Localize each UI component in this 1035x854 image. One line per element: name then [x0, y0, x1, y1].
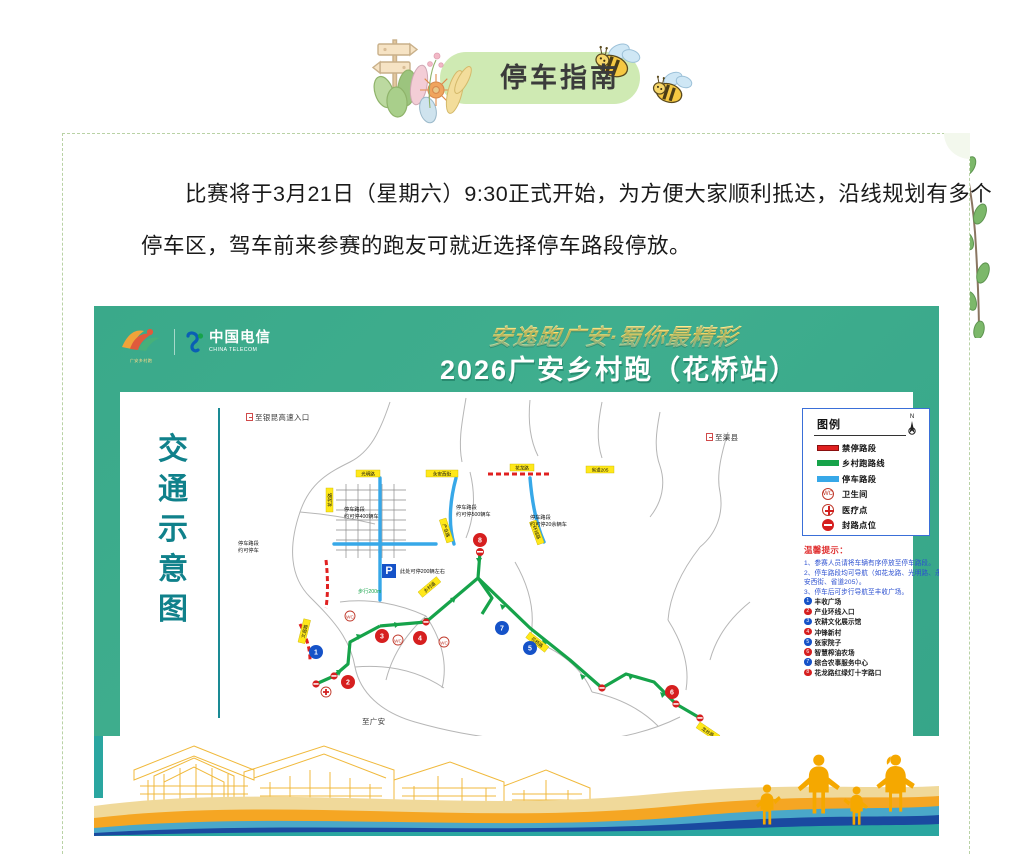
- legend-divider: [814, 435, 906, 436]
- signpost-icon: [246, 413, 253, 421]
- route-swatch: [817, 460, 839, 466]
- poi-label: 农耕文化展示馆: [815, 616, 862, 626]
- svg-text:花龙路: 花龙路: [326, 493, 333, 507]
- poi-label: 冲锋新村: [815, 627, 842, 637]
- legend-item-closure: 封路点位: [814, 518, 924, 534]
- tips-line: 2、停车路段均可导航（如花龙路、光明路、永安西街、省道205）。: [804, 569, 939, 588]
- direction-label: 至广安: [362, 716, 385, 727]
- list-item: 5 张家院子: [804, 637, 939, 647]
- direction-label: 至银昆高速入口: [246, 412, 310, 423]
- list-item: 2 产业环线入口: [804, 606, 939, 616]
- svg-text:WC: WC: [346, 614, 354, 619]
- traffic-map-poster: 广安乡村跑 中国电信 CHINA TELECOM 安逸跑广安·蜀你最精彩 202…: [94, 306, 939, 836]
- poi-label: 智慧榨油农场: [815, 647, 855, 657]
- card-corner-fold: [944, 133, 970, 159]
- legend-item-no-parking: 禁停路段: [814, 440, 924, 456]
- legend-item-medical: 医疗点: [814, 502, 924, 518]
- china-telecom-logo: 中国电信 CHINA TELECOM: [185, 331, 271, 354]
- list-item: 6 智慧榨油农场: [804, 647, 939, 657]
- logo-divider: [174, 329, 175, 355]
- signpost-flower-decoration: [370, 30, 480, 125]
- poster-main-title: 2026广安乡村跑（花桥站）: [394, 348, 844, 387]
- svg-text:5: 5: [528, 646, 532, 653]
- event-logo-caption: 广安乡村跑: [118, 358, 164, 364]
- svg-text:WC: WC: [440, 640, 448, 645]
- list-item: 8 花龙路红绿灯十字路口: [804, 667, 939, 677]
- svg-text:省道205: 省道205: [592, 466, 609, 473]
- map-road-network: 光明路 永安西街 花龙路 省道205 花龙路 产业路 环线路 乡村道 花桥路 文…: [230, 392, 800, 772]
- poi-label: 丰收广场: [815, 596, 842, 606]
- legend-item-route: 乡村跑路线: [814, 456, 924, 472]
- event-logo: 广安乡村跑: [118, 325, 164, 359]
- poi-number: 4: [804, 628, 812, 636]
- restroom-icon: WC: [822, 488, 834, 500]
- svg-text:3: 3: [380, 634, 384, 641]
- map-vertical-title: 交通示意图: [154, 430, 194, 630]
- poi-number: 1: [804, 597, 812, 605]
- page-title: 停车指南: [470, 62, 650, 94]
- svg-text:永安西街: 永安西街: [433, 470, 452, 477]
- tips-heading: 温馨提示：: [804, 544, 939, 556]
- poster-logos: 广安乡村跑 中国电信 CHINA TELECOM: [118, 324, 271, 360]
- poi-label: 张家院子: [815, 637, 842, 647]
- tips-block: 温馨提示： 1、参赛人员请将车辆有序停放至停车路段。 2、停车路段均可导航（如花…: [804, 544, 939, 597]
- legend-item-restroom: WC 卫生间: [814, 487, 924, 503]
- intro-paragraph: 比赛将于3月21日（星期六）9:30正式开始，为方便大家顺利抵达，沿线规划有多个…: [141, 168, 993, 272]
- svg-text:花龙路: 花龙路: [515, 464, 529, 471]
- telecom-name-cn: 中国电信: [209, 331, 271, 346]
- legend-title: 图例: [817, 416, 841, 432]
- poi-label: 综合农事服务中心: [815, 657, 869, 667]
- poster-footer-artwork: [94, 736, 939, 836]
- poi-number: 5: [804, 638, 812, 646]
- svg-text:2: 2: [346, 680, 350, 687]
- telecom-mark-icon: [185, 331, 205, 353]
- map-canvas: 交通示意图: [120, 392, 913, 772]
- content-card: 比赛将于3月21日（星期六）9:30正式开始，为方便大家顺利抵达，沿线规划有多个…: [62, 133, 970, 854]
- svg-text:7: 7: [500, 626, 504, 633]
- svg-text:6: 6: [670, 690, 674, 697]
- poster-slogan: 安逸跑广安·蜀你最精彩: [447, 318, 782, 352]
- page-header: 停车指南: [0, 0, 1035, 130]
- legend-rows: 禁停路段 乡村跑路线 停车路段 WC 卫生间: [814, 440, 924, 533]
- direction-label: 至渠县: [706, 432, 738, 443]
- list-item: 7 综合农事服务中心: [804, 657, 939, 667]
- svg-text:光明路: 光明路: [361, 470, 375, 477]
- poi-number: 6: [804, 648, 812, 656]
- parking-capacity-note: 停车路段约可停车: [238, 540, 259, 554]
- parking-capacity-note: 停车路段约可停500辆车: [456, 504, 491, 518]
- svg-text:WC: WC: [394, 638, 402, 643]
- list-item: 1 丰收广场: [804, 596, 939, 606]
- parking-p-icon: P: [382, 564, 396, 578]
- parking-swatch: [817, 476, 839, 482]
- poi-label: 花龙路红绿灯十字路口: [815, 667, 882, 677]
- tips-line: 1、参赛人员请将车辆有序停放至停车路段。: [804, 559, 939, 569]
- poi-label: 产业环线入口: [815, 606, 855, 616]
- medical-cross-icon: [822, 504, 834, 516]
- north-arrow-icon: N: [904, 414, 920, 438]
- svg-text:1: 1: [314, 650, 318, 657]
- parking-capacity-note: 此处可停200辆左右: [400, 568, 445, 575]
- poi-list: 1 丰收广场 2 产业环线入口 3 农耕文化展示馆 4 冲锋新村 5 张家院: [804, 596, 939, 678]
- poi-number: 8: [804, 669, 812, 677]
- road-closure-icon: [822, 519, 834, 531]
- list-item: 3 农耕文化展示馆: [804, 616, 939, 626]
- svg-text:4: 4: [418, 636, 422, 643]
- map-divider-rule: [218, 408, 220, 718]
- poi-number: 7: [804, 658, 812, 666]
- list-item: 4 冲锋新村: [804, 627, 939, 637]
- signpost-icon: [706, 433, 713, 441]
- poi-number: 3: [804, 618, 812, 626]
- walk-distance-note: 步行200m: [358, 588, 381, 595]
- no-parking-swatch: [817, 445, 839, 451]
- parking-capacity-note: 停车路段约可停20余辆车: [530, 514, 567, 528]
- bee-icon: [645, 68, 697, 108]
- parking-capacity-note: 停车路段约可停400辆车: [344, 506, 379, 520]
- poi-number: 2: [804, 608, 812, 616]
- svg-text:8: 8: [478, 538, 482, 545]
- legend-item-parking: 停车路段: [814, 471, 924, 487]
- telecom-name-en: CHINA TELECOM: [209, 346, 271, 354]
- map-legend: 图例 N 禁停路段 乡村跑路线: [802, 408, 930, 536]
